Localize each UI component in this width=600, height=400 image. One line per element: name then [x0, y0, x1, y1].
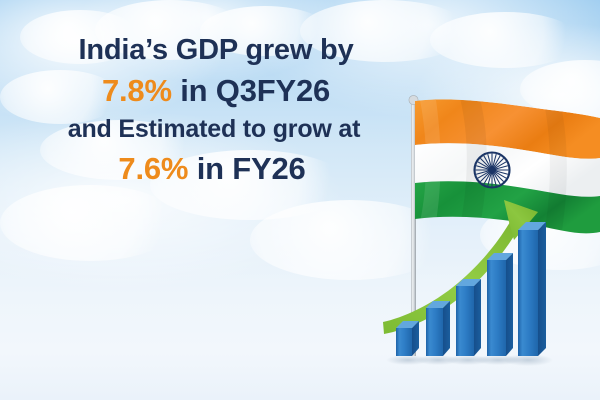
fy26-growth-label: in FY26	[188, 151, 305, 186]
headline-line-1: India’s GDP grew by	[0, 36, 418, 65]
cloud-puff	[0, 185, 180, 261]
cloud-puff	[250, 200, 450, 280]
flag-cloth	[415, 98, 600, 235]
cloud-puff	[480, 200, 600, 270]
headline-line-2: 7.8% in Q3FY26	[0, 75, 418, 106]
headline-line-3: and Estimated to grow at	[0, 117, 418, 142]
chart-bar-5	[518, 222, 546, 356]
flag-band-white	[415, 143, 600, 197]
gdp-infographic-poster: India’s GDP grew by 7.8% in Q3FY26 and E…	[0, 0, 600, 400]
chart-bar-3	[456, 279, 481, 356]
fy26-growth-value: 7.6%	[118, 151, 188, 186]
chart-bar-2	[426, 301, 450, 356]
headline-line-4: 7.6% in FY26	[0, 153, 418, 184]
chart-bar-4	[487, 253, 513, 356]
ashoka-chakra-icon	[475, 153, 510, 188]
headline-text-block: India’s GDP grew by 7.8% in Q3FY26 and E…	[0, 36, 418, 184]
chart-bar-1	[396, 321, 419, 356]
cloud-puff	[430, 12, 580, 68]
q3fy26-growth-value: 7.8%	[102, 73, 172, 108]
flag-band-green	[415, 181, 600, 235]
q3fy26-growth-label: in Q3FY26	[172, 73, 330, 108]
bar-ground-shadows	[386, 354, 553, 366]
growth-arrow-icon	[383, 200, 538, 334]
cloud-puff	[520, 60, 600, 118]
flag-band-saffron	[415, 99, 600, 158]
